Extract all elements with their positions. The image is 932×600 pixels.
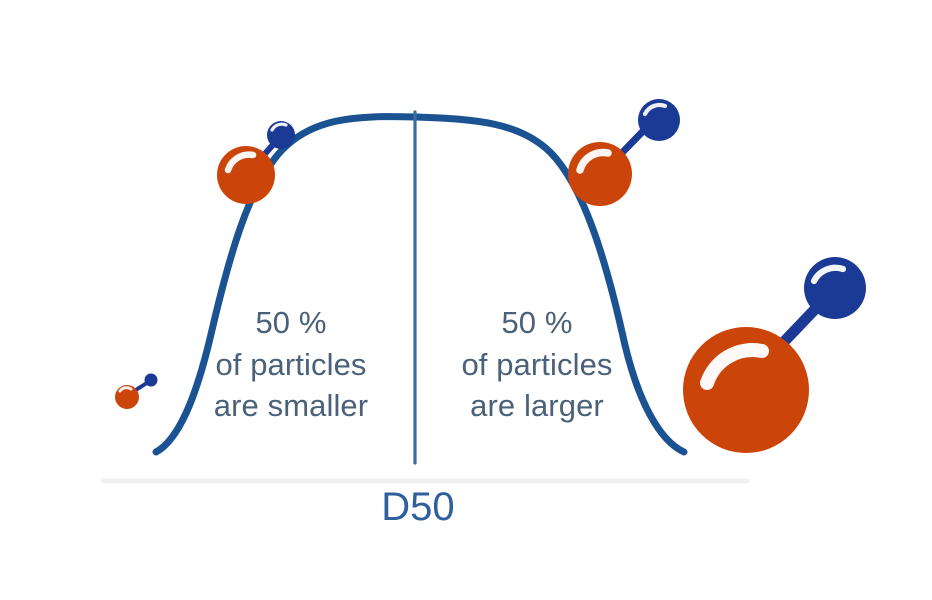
particle-large xyxy=(683,257,866,453)
axis-label-d50: D50 xyxy=(318,485,518,529)
annotation-left-half: 50 % of particles are smaller xyxy=(186,302,396,427)
annotation-right-line2: of particles xyxy=(432,344,642,386)
particle-medium xyxy=(568,99,680,206)
particle-small xyxy=(217,121,295,204)
annotation-right-line3: are larger xyxy=(432,385,642,427)
particle-xsmall xyxy=(115,374,158,410)
annotation-left-line1: 50 % xyxy=(186,302,396,344)
annotation-right-line1: 50 % xyxy=(432,302,642,344)
annotation-left-line2: of particles xyxy=(186,344,396,386)
annotation-right-half: 50 % of particles are larger xyxy=(432,302,642,427)
annotation-left-line3: are smaller xyxy=(186,385,396,427)
figure-canvas: 50 % of particles are smaller 50 % of pa… xyxy=(0,0,932,600)
particle-xsmall-blue-sphere xyxy=(145,374,158,387)
